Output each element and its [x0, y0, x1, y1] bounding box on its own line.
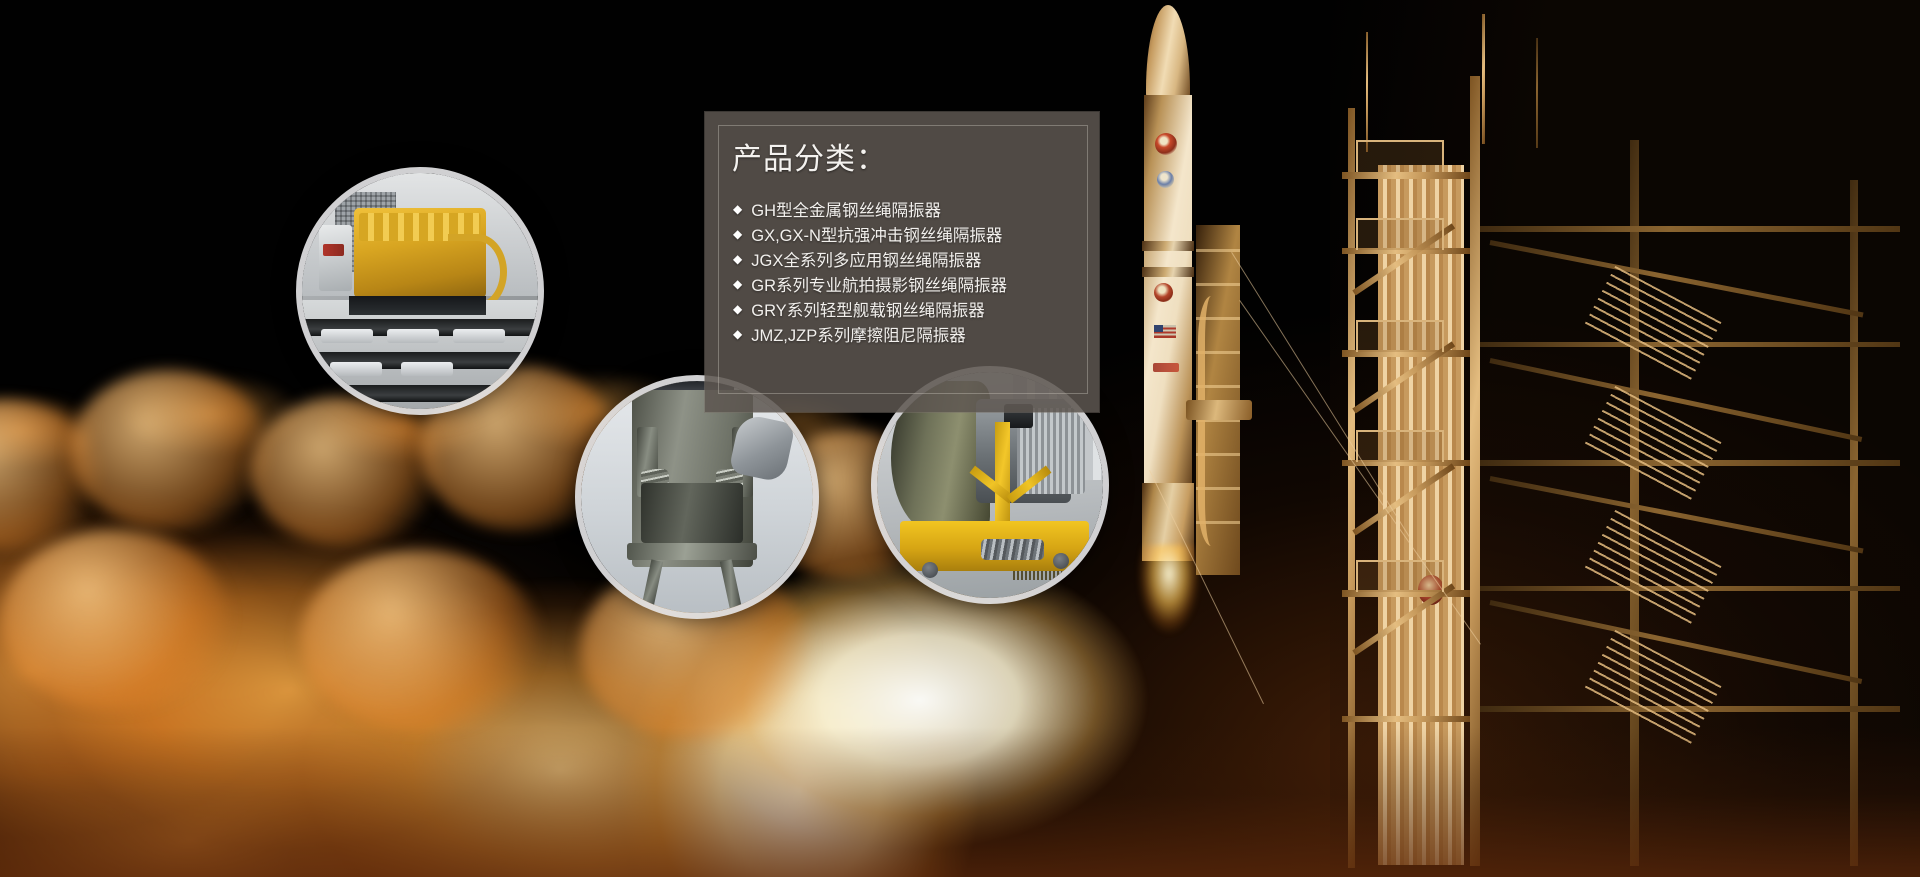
list-item-label: JGX全系列多应用钢丝绳隔振器	[751, 247, 981, 271]
photo-isolator-mount-inner	[581, 381, 813, 613]
generator-control-cabinet	[319, 225, 352, 291]
diamond-bullet-icon: ◆	[733, 228, 742, 240]
panel-title: 产品分类：	[732, 134, 887, 178]
rocket-band-upper	[1142, 241, 1194, 251]
diamond-bullet-icon: ◆	[733, 303, 742, 315]
rocket-band-lower	[1142, 267, 1194, 277]
generator-oil-pan	[349, 296, 486, 315]
tower-deck-1	[1342, 172, 1470, 179]
plume-puff	[250, 396, 440, 546]
cradle-label-text	[1013, 571, 1063, 580]
photo-diesel-generator-inner	[302, 173, 538, 409]
list-item-label: GRY系列轻型舰载钢丝绳隔振器	[751, 297, 984, 321]
list-item[interactable]: ◆ GRY系列轻型舰载钢丝绳隔振器	[733, 296, 1081, 321]
list-item-label: GH型全金属钢丝绳隔振器	[751, 197, 941, 221]
cradle-support-post	[995, 422, 1011, 535]
tower-antenna-1	[1366, 32, 1368, 152]
diamond-bullet-icon: ◆	[733, 278, 742, 290]
product-category-panel: 产品分类： ◆ GH型全金属钢丝绳隔振器 ◆ GX,GX-N型抗强冲击钢丝绳隔振…	[705, 112, 1099, 412]
generator-isolator-pad	[321, 329, 373, 343]
tower-deck-6	[1342, 716, 1470, 722]
list-item-label: GX,GX-N型抗强冲击钢丝绳隔振器	[751, 222, 1002, 246]
tower-rear-deck-1	[1480, 226, 1900, 232]
plume-puff	[300, 550, 540, 730]
tower-railing-2	[1356, 218, 1444, 250]
ground-glow	[0, 727, 1920, 877]
cradle-wire-rope-isolators	[981, 539, 1044, 559]
list-item-label: JMZ,JZP系列摩擦阻尼隔振器	[751, 322, 966, 346]
list-item[interactable]: ◆ GR系列专业航拍摄影钢丝绳隔振器	[733, 271, 1081, 296]
tower-railing-1	[1356, 140, 1444, 172]
rocket-us-flag-icon	[1154, 325, 1176, 338]
mast-rung	[1196, 249, 1240, 252]
product-photo-diesel-generator[interactable]	[296, 167, 544, 415]
generator-isolator-pad	[330, 362, 382, 376]
cradle-wheel-right	[1053, 553, 1069, 569]
rocket-nose-cone	[1146, 5, 1190, 101]
generator-red-valve	[323, 244, 344, 256]
list-item-label: GR系列专业航拍摄影钢丝绳隔振器	[751, 272, 1007, 296]
list-item[interactable]: ◆ JGX全系列多应用钢丝绳隔振器	[733, 246, 1081, 271]
rocket-mission-decal-1	[1155, 133, 1177, 155]
generator-isolator-pad	[387, 329, 439, 343]
tower-railing-4	[1356, 430, 1444, 462]
plume-puff	[70, 370, 270, 530]
mast-rung	[1196, 283, 1240, 286]
tower-antenna-3	[1536, 38, 1538, 148]
cradle-wheel-left	[922, 562, 938, 578]
tower-railing-5	[1356, 560, 1444, 592]
list-item[interactable]: ◆ GX,GX-N型抗强冲击钢丝绳隔振器	[733, 221, 1081, 246]
generator-rail	[302, 385, 538, 402]
tower-railing-3	[1356, 320, 1444, 352]
diamond-bullet-icon: ◆	[733, 328, 742, 340]
isolator-center-body	[641, 483, 743, 543]
rocket-mission-decal-2	[1157, 171, 1174, 188]
list-item[interactable]: ◆ GH型全金属钢丝绳隔振器	[733, 196, 1081, 221]
product-category-list: ◆ GH型全金属钢丝绳隔振器 ◆ GX,GX-N型抗强冲击钢丝绳隔振器 ◆ JG…	[733, 196, 1081, 346]
plume-puff	[0, 530, 230, 710]
list-item[interactable]: ◆ JMZ,JZP系列摩擦阻尼隔振器	[733, 321, 1081, 346]
generator-isolator-pad	[401, 362, 453, 376]
diamond-bullet-icon: ◆	[733, 203, 742, 215]
tower-antenna-2	[1482, 14, 1485, 144]
diamond-bullet-icon: ◆	[733, 253, 742, 265]
rocket-mission-decal-3	[1154, 283, 1173, 302]
hero-banner: 产品分类： ◆ GH型全金属钢丝绳隔振器 ◆ GX,GX-N型抗强冲击钢丝绳隔振…	[0, 0, 1920, 877]
generator-isolator-pad	[453, 329, 505, 343]
isolator-base-beam	[627, 543, 757, 559]
